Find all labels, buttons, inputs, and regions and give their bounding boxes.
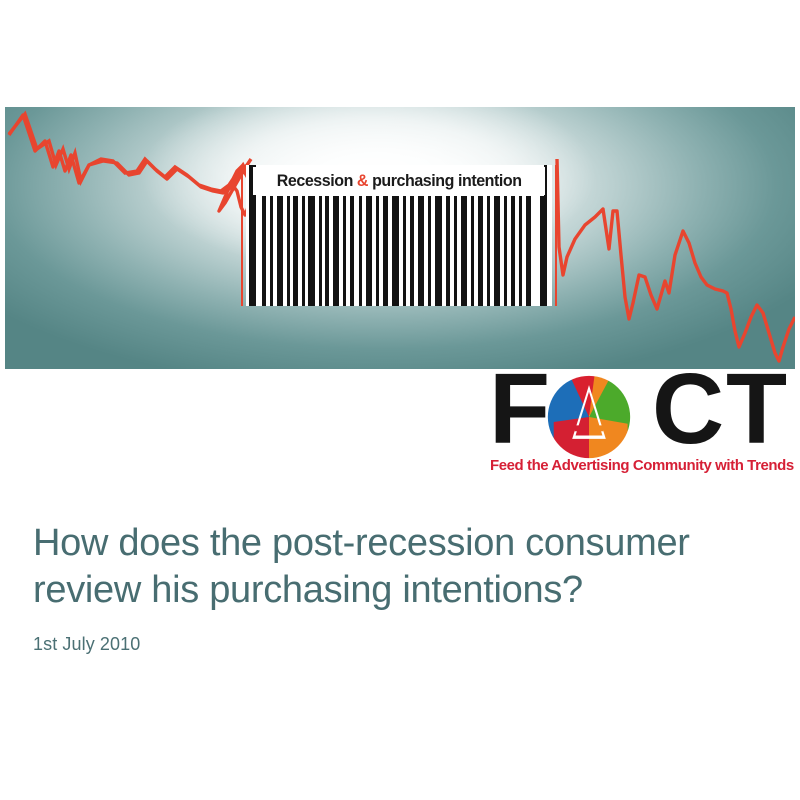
barcode-label-text: Recession & purchasing intention [277, 172, 522, 191]
fact-logo-wordmark: F C T [489, 371, 795, 459]
slide-date: 1st July 2010 [33, 633, 763, 655]
fact-logo-letter-a-colorwheel-icon [547, 375, 631, 459]
barcode-graphic: Recession & purchasing intention [241, 165, 557, 306]
fact-logo-tagline: Feed the Advertising Community with Tren… [490, 457, 790, 474]
barcode-label: Recession & purchasing intention [253, 167, 545, 195]
title-block: How does the post-recession consumerrevi… [33, 520, 763, 655]
barcode-label-ampersand: & [357, 172, 368, 190]
barcode-right-red-line [555, 165, 557, 306]
page-title: How does the post-recession consumerrevi… [33, 520, 763, 614]
trend-line-left [9, 114, 257, 215]
fact-logo-letter-c: C [652, 365, 721, 453]
page-title-line2: review his purchasing intentions? [33, 569, 583, 611]
fact-logo: F C T [489, 371, 795, 479]
fact-logo-letter-t: T [726, 365, 784, 453]
trend-path-right [557, 159, 795, 361]
trend-path-left [9, 115, 251, 215]
barcode-label-part1: Recession [277, 172, 357, 190]
fact-logo-letter-f: F [489, 365, 547, 453]
hero-banner: Recession & purchasing intention [5, 107, 795, 369]
barcode-left-red-line [241, 165, 243, 306]
barcode-label-part2: purchasing intention [368, 172, 522, 190]
page-title-line1: How does the post-recession consumer [33, 522, 690, 564]
